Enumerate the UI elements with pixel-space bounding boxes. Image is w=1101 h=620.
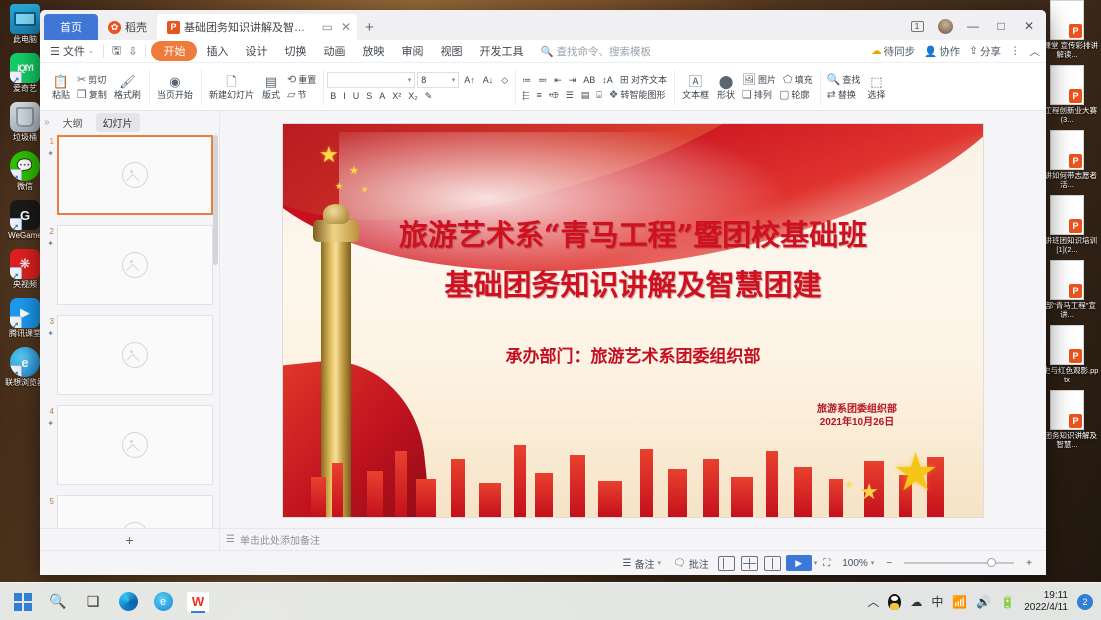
battery-icon[interactable]: 🔋 bbox=[1000, 595, 1015, 609]
editor-body: » 大纲 幻灯片 1✦ 2✦ 3✦ 4✦ bbox=[40, 111, 1046, 550]
star-decoration: ★ bbox=[319, 144, 339, 166]
slide-number: 2 bbox=[50, 227, 54, 236]
align-text-button[interactable]: ⊞ 对齐文本 bbox=[617, 73, 670, 87]
reset-button[interactable]: ⟲ 重置 bbox=[284, 73, 319, 87]
share-icon: ⇪ bbox=[969, 45, 978, 57]
replace-label: 替换 bbox=[838, 89, 856, 101]
zoom-in-button[interactable]: + bbox=[1020, 558, 1038, 569]
tab-start[interactable]: 开始 bbox=[151, 41, 197, 61]
collapse-pane-icon[interactable]: » bbox=[44, 117, 50, 128]
slide-sorter-icon[interactable] bbox=[741, 556, 758, 571]
ribbon-group-paragraph: ≔ ≕ ⇤ ⇥ AB ↕A ⊞ 对齐文本 ⬱ ≡ ⬲ ☰ ▤ bbox=[515, 65, 674, 110]
tab-transition[interactable]: 切换 bbox=[276, 41, 314, 61]
edge-icon bbox=[119, 592, 138, 611]
zoom-value: 100% bbox=[842, 558, 868, 569]
text-highlight-button[interactable]: ✎ bbox=[422, 89, 436, 103]
share-button[interactable]: ⇪ 分享 bbox=[969, 44, 1001, 59]
format-painter-icon: 🖌 bbox=[119, 75, 136, 89]
hamburger-icon: ☰ bbox=[50, 45, 60, 58]
comments-button[interactable]: 🗨 批注 bbox=[667, 556, 715, 571]
task-view-button[interactable]: ❑ bbox=[82, 591, 104, 613]
reset-icon: ⟲ bbox=[287, 74, 296, 86]
play-circle-icon: ◉ bbox=[169, 75, 180, 89]
find-button[interactable]: 🔍 查找 bbox=[824, 73, 864, 87]
menu-bar-right: ☁ 待同步 👤 协作 ⇪ 分享 ⋮ ︿ bbox=[871, 44, 1040, 59]
tab-label: 稻壳 bbox=[125, 19, 147, 35]
slide-number: 1 bbox=[50, 137, 54, 146]
fill-icon: ⬠ bbox=[783, 74, 793, 86]
align-left-button[interactable]: ⬱ bbox=[519, 88, 532, 102]
bullet-list-button[interactable]: ≔ bbox=[519, 73, 534, 87]
start-from-current-button[interactable]: ◉ 当页开始 bbox=[153, 65, 197, 110]
window-count-badge[interactable]: 1 bbox=[911, 21, 924, 32]
iqiyi-icon: iQIYI bbox=[10, 53, 40, 83]
tab-animation[interactable]: 动画 bbox=[315, 41, 353, 61]
slide-canvas[interactable]: ★ ★ ★ ★ bbox=[283, 124, 983, 517]
windows-taskbar: 🔍 ❑ e W ︿ ☁ 中 📶 🔊 🔋 19:11 2022/4/11 2 bbox=[0, 582, 1101, 620]
format-painter-button[interactable]: 🖌 格式刷 bbox=[110, 65, 145, 110]
find-label: 查找 bbox=[842, 74, 860, 86]
task-view-icon: ❑ bbox=[87, 593, 100, 610]
select-icon: ⬚ bbox=[870, 75, 882, 89]
tab-label: 首页 bbox=[60, 19, 82, 35]
replace-icon: ⇄ bbox=[827, 89, 836, 101]
paste-button[interactable]: 📋 粘贴 bbox=[48, 65, 74, 110]
notes-icon: ☰ bbox=[623, 558, 632, 569]
ime-icon[interactable]: 中 bbox=[931, 593, 943, 610]
normal-view-icon[interactable] bbox=[718, 556, 735, 571]
arrange-icon: ❏ bbox=[742, 89, 752, 101]
paste-label: 粘贴 bbox=[52, 90, 70, 101]
clear-format-button[interactable]: ◇ bbox=[498, 73, 511, 87]
tab-pin-icon[interactable]: ▭ bbox=[320, 20, 335, 34]
tab-document[interactable]: P 基础团务知识讲解及智慧团建 ▭ ✕ bbox=[157, 14, 357, 40]
chevron-down-icon: ▾ bbox=[408, 76, 412, 84]
star-decoration: ★ bbox=[843, 477, 855, 493]
notes-button[interactable]: ☰ 备注 ▾ bbox=[617, 556, 667, 571]
cut-button[interactable]: ✂ 剪切 bbox=[74, 73, 110, 87]
user-avatar[interactable] bbox=[932, 15, 958, 37]
decrease-indent-button[interactable]: ⇤ bbox=[551, 73, 565, 87]
layout-icon: ▤ bbox=[265, 75, 277, 89]
tab-view[interactable]: 视图 bbox=[432, 41, 470, 61]
collaborate-button[interactable]: 👤 协作 bbox=[924, 44, 960, 59]
new-slide-button[interactable]: 🗋 新建幻灯片 bbox=[205, 65, 258, 110]
collapse-ribbon-icon[interactable]: ︿ bbox=[1030, 44, 1041, 59]
close-button[interactable]: ✕ bbox=[1016, 15, 1042, 37]
animation-star-icon: ✦ bbox=[42, 239, 54, 248]
slide-thumbnail-1[interactable]: 1✦ bbox=[40, 135, 219, 225]
ribbon-group-slideshow: ◉ 当页开始 bbox=[149, 65, 201, 110]
maximize-button[interactable]: □ bbox=[988, 15, 1014, 37]
shape-label: 形状 bbox=[717, 90, 735, 101]
tab-outline[interactable]: 大纲 bbox=[56, 113, 90, 132]
undo-redo-icon[interactable]: ⇩ bbox=[125, 44, 140, 59]
layout-button[interactable]: ▤ 版式 bbox=[258, 65, 284, 110]
wps-button[interactable]: W bbox=[187, 591, 209, 613]
slide-stamp-org: 旅游系团委组织部 bbox=[817, 403, 897, 416]
shape-icon: ⬤ bbox=[719, 75, 734, 89]
slide-title[interactable]: 旅游艺术系“青马工程”暨团校基础班 基础团务知识讲解及智慧团建 bbox=[283, 210, 983, 310]
edge-button[interactable] bbox=[117, 591, 139, 613]
text-box-button[interactable]: 🄰 文本框 bbox=[678, 65, 713, 110]
new-slide-icon: 🗋 bbox=[226, 75, 236, 89]
outline-icon: ▢ bbox=[779, 89, 789, 101]
clock[interactable]: 19:11 2022/4/11 bbox=[1024, 590, 1068, 614]
shape-button[interactable]: ⬤ 形状 bbox=[713, 65, 739, 110]
search-input[interactable]: 🔍 查找命令、搜索模板 bbox=[540, 44, 651, 59]
tab-home[interactable]: 首页 bbox=[44, 14, 98, 40]
more-options-icon[interactable]: ⋮ bbox=[1010, 45, 1021, 57]
star-decoration: ★ bbox=[349, 166, 359, 177]
wps-presentation-window: 首页 ✿ 稻壳 P 基础团务知识讲解及智慧团建 ▭ ✕ + 1 — □ ✕ ☰ … bbox=[40, 10, 1046, 575]
pptx-file-icon: P bbox=[1050, 130, 1084, 170]
arrange-button[interactable]: ❏ 排列 bbox=[739, 88, 775, 102]
window-controls: 1 — □ ✕ bbox=[904, 15, 1046, 40]
slide-title-line1: 旅游艺术系“青马工程”暨团校基础班 bbox=[283, 210, 983, 260]
reset-label: 重置 bbox=[298, 74, 316, 86]
search-button[interactable]: 🔍 bbox=[47, 591, 69, 613]
wegame-icon: G bbox=[10, 200, 40, 230]
shrink-font-button[interactable]: A↓ bbox=[480, 73, 497, 87]
strikethrough-button[interactable]: S bbox=[363, 89, 375, 103]
slide-stamp[interactable]: 旅游系团委组织部 2021年10月26日 bbox=[817, 403, 897, 429]
image-placeholder-icon bbox=[122, 252, 148, 278]
slide-number: 5 bbox=[50, 497, 54, 506]
tab-close-icon[interactable]: ✕ bbox=[339, 20, 353, 34]
qq-penguin-icon[interactable] bbox=[888, 594, 901, 610]
windows-logo-icon bbox=[14, 593, 32, 611]
animation-star-icon: ✦ bbox=[42, 329, 54, 338]
search-icon: 🔍 bbox=[49, 593, 66, 610]
outline-label: 轮廓 bbox=[791, 89, 809, 101]
select-label: 选择 bbox=[867, 90, 885, 101]
slide-thumbnail-list[interactable]: 1✦ 2✦ 3✦ 4✦ 5 bbox=[40, 133, 219, 528]
slide-title-line2: 基础团务知识讲解及智慧团建 bbox=[283, 260, 983, 310]
bold-button[interactable]: B bbox=[327, 89, 339, 103]
start-button[interactable] bbox=[12, 591, 34, 613]
section-icon: ▱ bbox=[287, 89, 295, 101]
new-tab-button[interactable]: + bbox=[357, 14, 382, 40]
text-direction-button[interactable]: AB bbox=[580, 73, 598, 87]
ribbon-group-insert: 🄰 文本框 ⬤ 形状 🖼 图片 ⬠ 填充 bbox=[674, 65, 820, 110]
slide-pane-scrollbar[interactable] bbox=[213, 135, 218, 265]
menu-bar: ☰ 文件 ⌄ 🖫 ⇩ 开始 插入 设计 切换 动画 放映 审阅 视图 开发工具 … bbox=[40, 40, 1046, 63]
cloud-icon[interactable]: ☁ bbox=[910, 595, 922, 609]
fill-label: 填充 bbox=[795, 74, 813, 86]
ribbon-toolbar: 📋 粘贴 ✂ 剪切 ❐ 复制 🖌 格式刷 ◉ 当页开始 bbox=[40, 63, 1046, 111]
comments-label: 批注 bbox=[689, 556, 709, 571]
minimize-button[interactable]: — bbox=[960, 15, 986, 37]
wps-icon: W bbox=[187, 592, 209, 612]
numbered-list-button[interactable]: ≕ bbox=[535, 73, 550, 87]
tab-developer[interactable]: 开发工具 bbox=[471, 41, 531, 61]
chevron-down-icon: ▾ bbox=[871, 559, 875, 567]
zoom-out-button[interactable]: − bbox=[880, 558, 898, 569]
zoom-slider[interactable] bbox=[904, 562, 1014, 564]
system-tray: ︿ ☁ 中 📶 🔊 🔋 19:11 2022/4/11 2 bbox=[867, 590, 1101, 614]
text-box-icon: 🄰 bbox=[689, 75, 702, 89]
search-placeholder: 查找命令、搜索模板 bbox=[557, 44, 652, 59]
tab-docer[interactable]: ✿ 稻壳 bbox=[98, 14, 157, 40]
notification-badge[interactable]: 2 bbox=[1077, 594, 1093, 610]
animation-star-icon: ✦ bbox=[42, 419, 54, 428]
cctv-video-icon: ❋ bbox=[10, 249, 40, 279]
slide-number: 3 bbox=[50, 317, 54, 326]
image-placeholder-icon bbox=[122, 432, 148, 458]
computer-icon bbox=[10, 4, 40, 34]
picture-button[interactable]: 🖼 图片 bbox=[739, 73, 779, 87]
divider bbox=[103, 44, 104, 58]
pptx-file-icon: P bbox=[1050, 325, 1084, 365]
slide-pane-header: » 大纲 幻灯片 bbox=[40, 111, 219, 133]
star-decoration: ★ bbox=[859, 479, 879, 505]
image-placeholder-icon bbox=[122, 342, 148, 368]
pptx-file-icon: P bbox=[1050, 260, 1084, 300]
columns-button[interactable]: ⌸ bbox=[593, 88, 604, 102]
tencent-ketang-icon: ▶ bbox=[10, 298, 40, 328]
line-spacing-button[interactable]: ↕A bbox=[599, 73, 616, 87]
status-bar: ☰ 备注 ▾ 🗨 批注 ▶ ▾ ⛶ 100% ▾ − + bbox=[40, 550, 1046, 575]
slideshow-play-button[interactable]: ▶ bbox=[786, 555, 812, 571]
notes-icon: ☰ bbox=[226, 534, 235, 545]
cut-icon: ✂ bbox=[77, 74, 86, 86]
clock-time: 19:11 bbox=[1024, 590, 1068, 602]
star-decoration: ★ bbox=[335, 182, 343, 191]
ribbon-group-editing: 🔍 查找 ⇄ 替换 ⬚ 选择 bbox=[820, 65, 894, 110]
collaborate-icon: 👤 bbox=[924, 45, 937, 58]
window-tab-bar: 首页 ✿ 稻壳 P 基础团务知识讲解及智慧团建 ▭ ✕ + 1 — □ ✕ bbox=[40, 10, 1046, 40]
pptx-file-icon: P bbox=[1050, 0, 1084, 40]
zoom-slider-knob[interactable] bbox=[987, 558, 996, 567]
notes-pane[interactable]: ☰ 单击此处添加备注 bbox=[220, 528, 1046, 550]
slide-canvas-wrapper: ★ ★ ★ ★ bbox=[220, 111, 1046, 550]
format-painter-label: 格式刷 bbox=[114, 90, 141, 101]
taskbar-buttons: 🔍 ❑ e W bbox=[0, 591, 209, 613]
replace-button[interactable]: ⇄ 替换 bbox=[824, 88, 864, 102]
section-button[interactable]: ▱ 节 bbox=[284, 88, 319, 102]
tab-slides[interactable]: 幻灯片 bbox=[96, 113, 140, 132]
reading-view-icon[interactable] bbox=[764, 556, 781, 571]
image-placeholder-icon bbox=[122, 162, 148, 188]
chevron-up-icon[interactable]: ︿ bbox=[867, 593, 879, 610]
to-smartart-button[interactable]: ❖ 转智能图形 bbox=[606, 88, 669, 102]
copy-icon: ❐ bbox=[77, 89, 87, 101]
lenovo-browser-icon: e bbox=[10, 347, 40, 377]
search-icon: 🔍 bbox=[540, 45, 553, 58]
chevron-down-icon: ▾ bbox=[452, 76, 456, 84]
star-decoration: ★ bbox=[361, 186, 368, 194]
distribute-button[interactable]: ▤ bbox=[578, 88, 593, 102]
outline-button[interactable]: ▢ 轮廓 bbox=[776, 88, 812, 102]
layout-label: 版式 bbox=[262, 90, 280, 101]
font-name-input[interactable]: ▾ bbox=[327, 72, 415, 88]
lenovo-browser-icon: e bbox=[154, 592, 173, 611]
paste-icon: 📋 bbox=[53, 75, 69, 89]
chevron-down-icon: ⌄ bbox=[88, 47, 94, 55]
sync-status-button[interactable]: ☁ 待同步 bbox=[871, 44, 915, 59]
tab-review[interactable]: 审阅 bbox=[393, 41, 431, 61]
ribbon-group-font: ▾ 8 ▾ A↑ A↓ ◇ B I U S A X² bbox=[323, 65, 515, 110]
docer-icon: ✿ bbox=[108, 21, 121, 34]
align-right-button[interactable]: ⬲ bbox=[546, 88, 562, 102]
tab-slideshow[interactable]: 放映 bbox=[354, 41, 392, 61]
image-placeholder-icon bbox=[122, 522, 148, 528]
start-from-current-label: 当页开始 bbox=[157, 90, 193, 101]
share-label: 分享 bbox=[980, 44, 1001, 59]
grow-font-button[interactable]: A↑ bbox=[461, 73, 478, 87]
arrange-label: 排列 bbox=[754, 89, 772, 101]
zoom-level-label[interactable]: 100% ▾ bbox=[836, 558, 880, 569]
slide-thumbnail-4[interactable]: 4✦ bbox=[40, 405, 219, 495]
collaborate-label: 协作 bbox=[939, 44, 960, 59]
text-color-button[interactable]: A bbox=[376, 89, 388, 103]
divider bbox=[145, 44, 146, 58]
wifi-icon[interactable]: 📶 bbox=[952, 595, 967, 609]
chevron-down-icon: ▾ bbox=[657, 559, 661, 567]
volume-icon[interactable]: 🔊 bbox=[976, 595, 991, 609]
file-menu[interactable]: ☰ 文件 ⌄ bbox=[46, 41, 98, 61]
text-box-label: 文本框 bbox=[682, 90, 709, 101]
picture-label: 图片 bbox=[758, 74, 776, 86]
copy-button[interactable]: ❐ 复制 bbox=[74, 88, 110, 102]
to-smartart-label: 转智能图形 bbox=[621, 89, 666, 101]
justify-button[interactable]: ☰ bbox=[563, 88, 577, 102]
font-size-input[interactable]: 8 ▾ bbox=[417, 72, 459, 88]
ribbon-group-slides: 🗋 新建幻灯片 ▤ 版式 ⟲ 重置 ▱ 节 bbox=[201, 65, 323, 110]
slide-stamp-date: 2021年10月26日 bbox=[817, 416, 897, 429]
slide-thumbnail-5[interactable]: 5 bbox=[40, 495, 219, 528]
italic-button[interactable]: I bbox=[340, 89, 349, 103]
notes-placeholder: 单击此处添加备注 bbox=[240, 532, 320, 547]
fit-slide-button[interactable]: ⛶ bbox=[817, 558, 836, 569]
slide-subtitle[interactable]: 承办部门：旅游艺术系团委组织部 bbox=[283, 342, 983, 367]
align-text-label: 对齐文本 bbox=[631, 74, 667, 86]
slide-thumbnail-pane: » 大纲 幻灯片 1✦ 2✦ 3✦ 4✦ bbox=[40, 111, 220, 550]
animation-star-icon: ✦ bbox=[42, 149, 54, 158]
tab-design[interactable]: 设计 bbox=[237, 41, 275, 61]
font-size-value: 8 bbox=[421, 75, 426, 85]
cloud-sync-icon: ☁ bbox=[871, 45, 882, 57]
lenovo-browser-button[interactable]: e bbox=[152, 591, 174, 613]
tab-label: 基础团务知识讲解及智慧团建 bbox=[184, 19, 316, 35]
cut-label: 剪切 bbox=[88, 74, 106, 86]
search-icon: 🔍 bbox=[827, 74, 841, 86]
wechat-icon: 💬 bbox=[10, 151, 40, 181]
slide-number: 4 bbox=[50, 407, 54, 416]
notes-label: 备注 bbox=[634, 556, 654, 571]
save-icon[interactable]: 🖫 bbox=[109, 41, 124, 62]
sync-label: 待同步 bbox=[884, 44, 916, 59]
slide-canvas-area: ★ ★ ★ ★ bbox=[220, 111, 1046, 528]
superscript-button[interactable]: X² bbox=[389, 89, 404, 103]
align-center-button[interactable]: ≡ bbox=[533, 88, 544, 102]
select-button[interactable]: ⬚ 选择 bbox=[863, 65, 889, 110]
comment-icon: 🗨 bbox=[673, 558, 686, 569]
slide-thumbnail-2[interactable]: 2✦ bbox=[40, 225, 219, 315]
file-menu-label: 文件 bbox=[63, 43, 85, 59]
smartart-icon: ❖ bbox=[609, 89, 619, 101]
copy-label: 复制 bbox=[89, 89, 107, 101]
pptx-file-icon: P bbox=[1050, 390, 1084, 430]
pptx-icon: P bbox=[167, 21, 180, 34]
align-text-icon: ⊞ bbox=[620, 74, 629, 86]
underline-button[interactable]: U bbox=[350, 89, 363, 103]
ribbon-group-clipboard: 📋 粘贴 ✂ 剪切 ❐ 复制 🖌 格式刷 bbox=[44, 65, 149, 110]
picture-icon: 🖼 bbox=[742, 74, 756, 86]
pptx-file-icon: P bbox=[1050, 195, 1084, 235]
clock-date: 2022/4/11 bbox=[1024, 602, 1068, 614]
slide-thumbnail-3[interactable]: 3✦ bbox=[40, 315, 219, 405]
fill-button[interactable]: ⬠ 填充 bbox=[780, 73, 816, 87]
new-slide-label: 新建幻灯片 bbox=[209, 90, 254, 101]
section-label: 节 bbox=[297, 89, 306, 101]
tab-insert[interactable]: 插入 bbox=[198, 41, 236, 61]
increase-indent-button[interactable]: ⇥ bbox=[566, 73, 580, 87]
recycle-bin-icon bbox=[10, 102, 40, 132]
subscript-button[interactable]: X₂ bbox=[405, 89, 421, 103]
pptx-file-icon: P bbox=[1050, 65, 1084, 105]
big-star-decoration: ★ bbox=[892, 447, 939, 499]
add-slide-button[interactable]: + bbox=[40, 528, 219, 550]
